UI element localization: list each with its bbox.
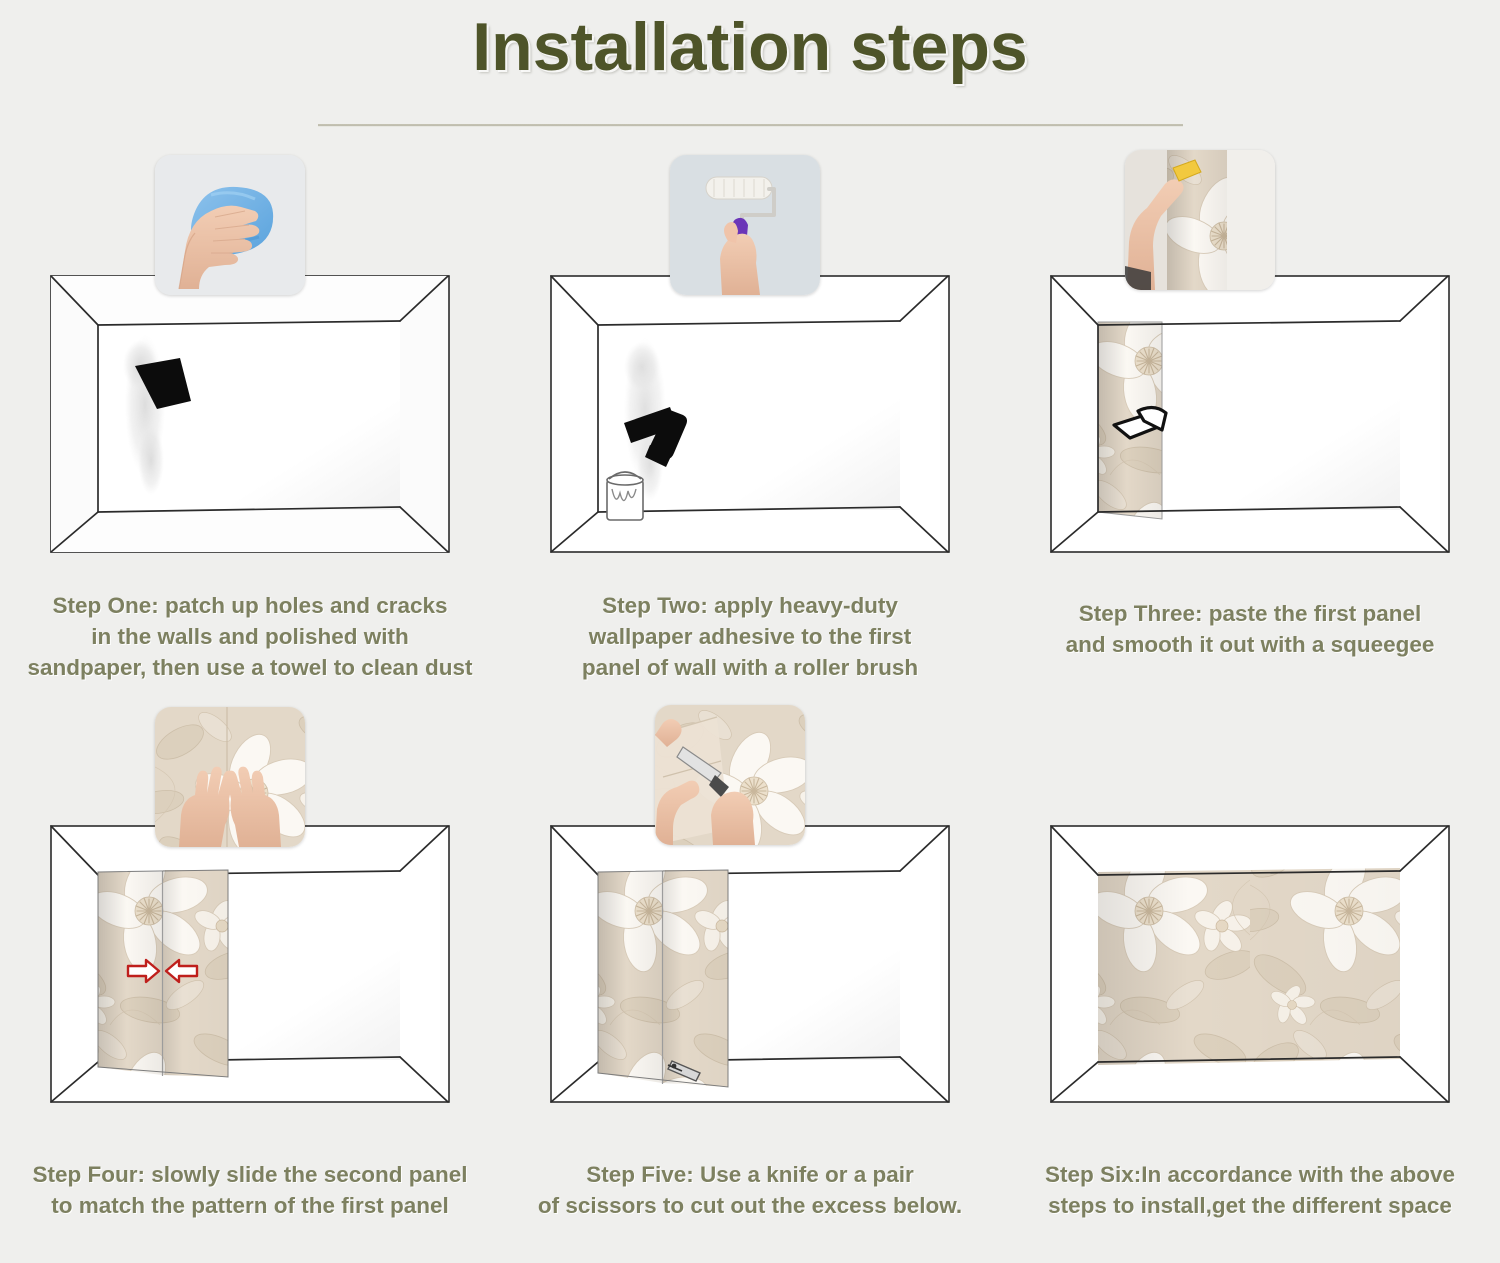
inset-photo-step-one	[155, 155, 305, 295]
caption-line: to match the pattern of the first panel	[0, 1190, 500, 1221]
caption-step-two: Step Two: apply heavy-duty wallpaper adh…	[500, 590, 1000, 683]
step-card-three: Step Three: paste the first panel and sm…	[1000, 150, 1500, 707]
room-diagram-four	[50, 825, 450, 1103]
caption-step-one: Step One: patch up holes and cracks in t…	[0, 590, 500, 683]
inset-photo-step-two	[670, 155, 820, 295]
caption-line: Step Six:In accordance with the above	[1000, 1159, 1500, 1190]
step-card-one: Step One: patch up holes and cracks in t…	[0, 150, 500, 707]
step-card-four: Step Four: slowly slide the second panel…	[0, 707, 500, 1263]
caption-line: Step One: patch up holes and cracks	[0, 590, 500, 621]
step-three-illustration	[1000, 150, 1500, 570]
inset-photo-step-three	[1125, 150, 1275, 290]
step-six-illustration	[1000, 707, 1500, 1127]
step-one-illustration	[0, 150, 500, 570]
wallpaper-full-wall	[1098, 868, 1400, 1065]
step-five-illustration	[500, 707, 1000, 1127]
room-diagram-two	[550, 275, 950, 553]
wallpaper-panel-1	[598, 872, 662, 1083]
step-card-two: Step Two: apply heavy-duty wallpaper adh…	[500, 150, 1000, 707]
caption-step-three: Step Three: paste the first panel and sm…	[1000, 598, 1500, 660]
caption-line: Step Four: slowly slide the second panel	[0, 1159, 500, 1190]
caption-step-five: Step Five: Use a knife or a pair of scis…	[500, 1159, 1000, 1221]
caption-line: Step Three: paste the first panel	[1000, 598, 1500, 629]
step-two-illustration	[500, 150, 1000, 570]
room-diagram-three	[1050, 275, 1450, 553]
caption-step-six: Step Six:In accordance with the above st…	[1000, 1159, 1500, 1221]
wallpaper-panel-2	[663, 870, 728, 1087]
caption-line: panel of wall with a roller brush	[500, 652, 1000, 683]
caption-line: sandpaper, then use a towel to clean dus…	[0, 652, 500, 683]
caption-line: Step Two: apply heavy-duty	[500, 590, 1000, 621]
caption-line: steps to install,get the different space	[1000, 1190, 1500, 1221]
room-diagram-six	[1050, 825, 1450, 1103]
step-card-six: Step Six:In accordance with the above st…	[1000, 707, 1500, 1263]
caption-line: of scissors to cut out the excess below.	[500, 1190, 1000, 1221]
step-four-illustration	[0, 707, 500, 1127]
steps-grid: Step One: patch up holes and cracks in t…	[0, 150, 1500, 1263]
step-card-five: Step Five: Use a knife or a pair of scis…	[500, 707, 1000, 1263]
inset-photo-step-five	[655, 705, 805, 845]
page-title: Installation steps	[0, 0, 1500, 86]
caption-line: Step Five: Use a knife or a pair	[500, 1159, 1000, 1190]
inset-photo-step-four	[155, 707, 305, 847]
title-divider	[318, 124, 1183, 127]
caption-line: and smooth it out with a squeegee	[1000, 629, 1500, 660]
caption-line: in the walls and polished with	[0, 621, 500, 652]
caption-step-four: Step Four: slowly slide the second panel…	[0, 1159, 500, 1221]
paint-bucket-icon	[607, 472, 643, 520]
room-diagram-one	[50, 275, 450, 553]
room-diagram-five	[550, 825, 950, 1103]
caption-line: wallpaper adhesive to the first	[500, 621, 1000, 652]
